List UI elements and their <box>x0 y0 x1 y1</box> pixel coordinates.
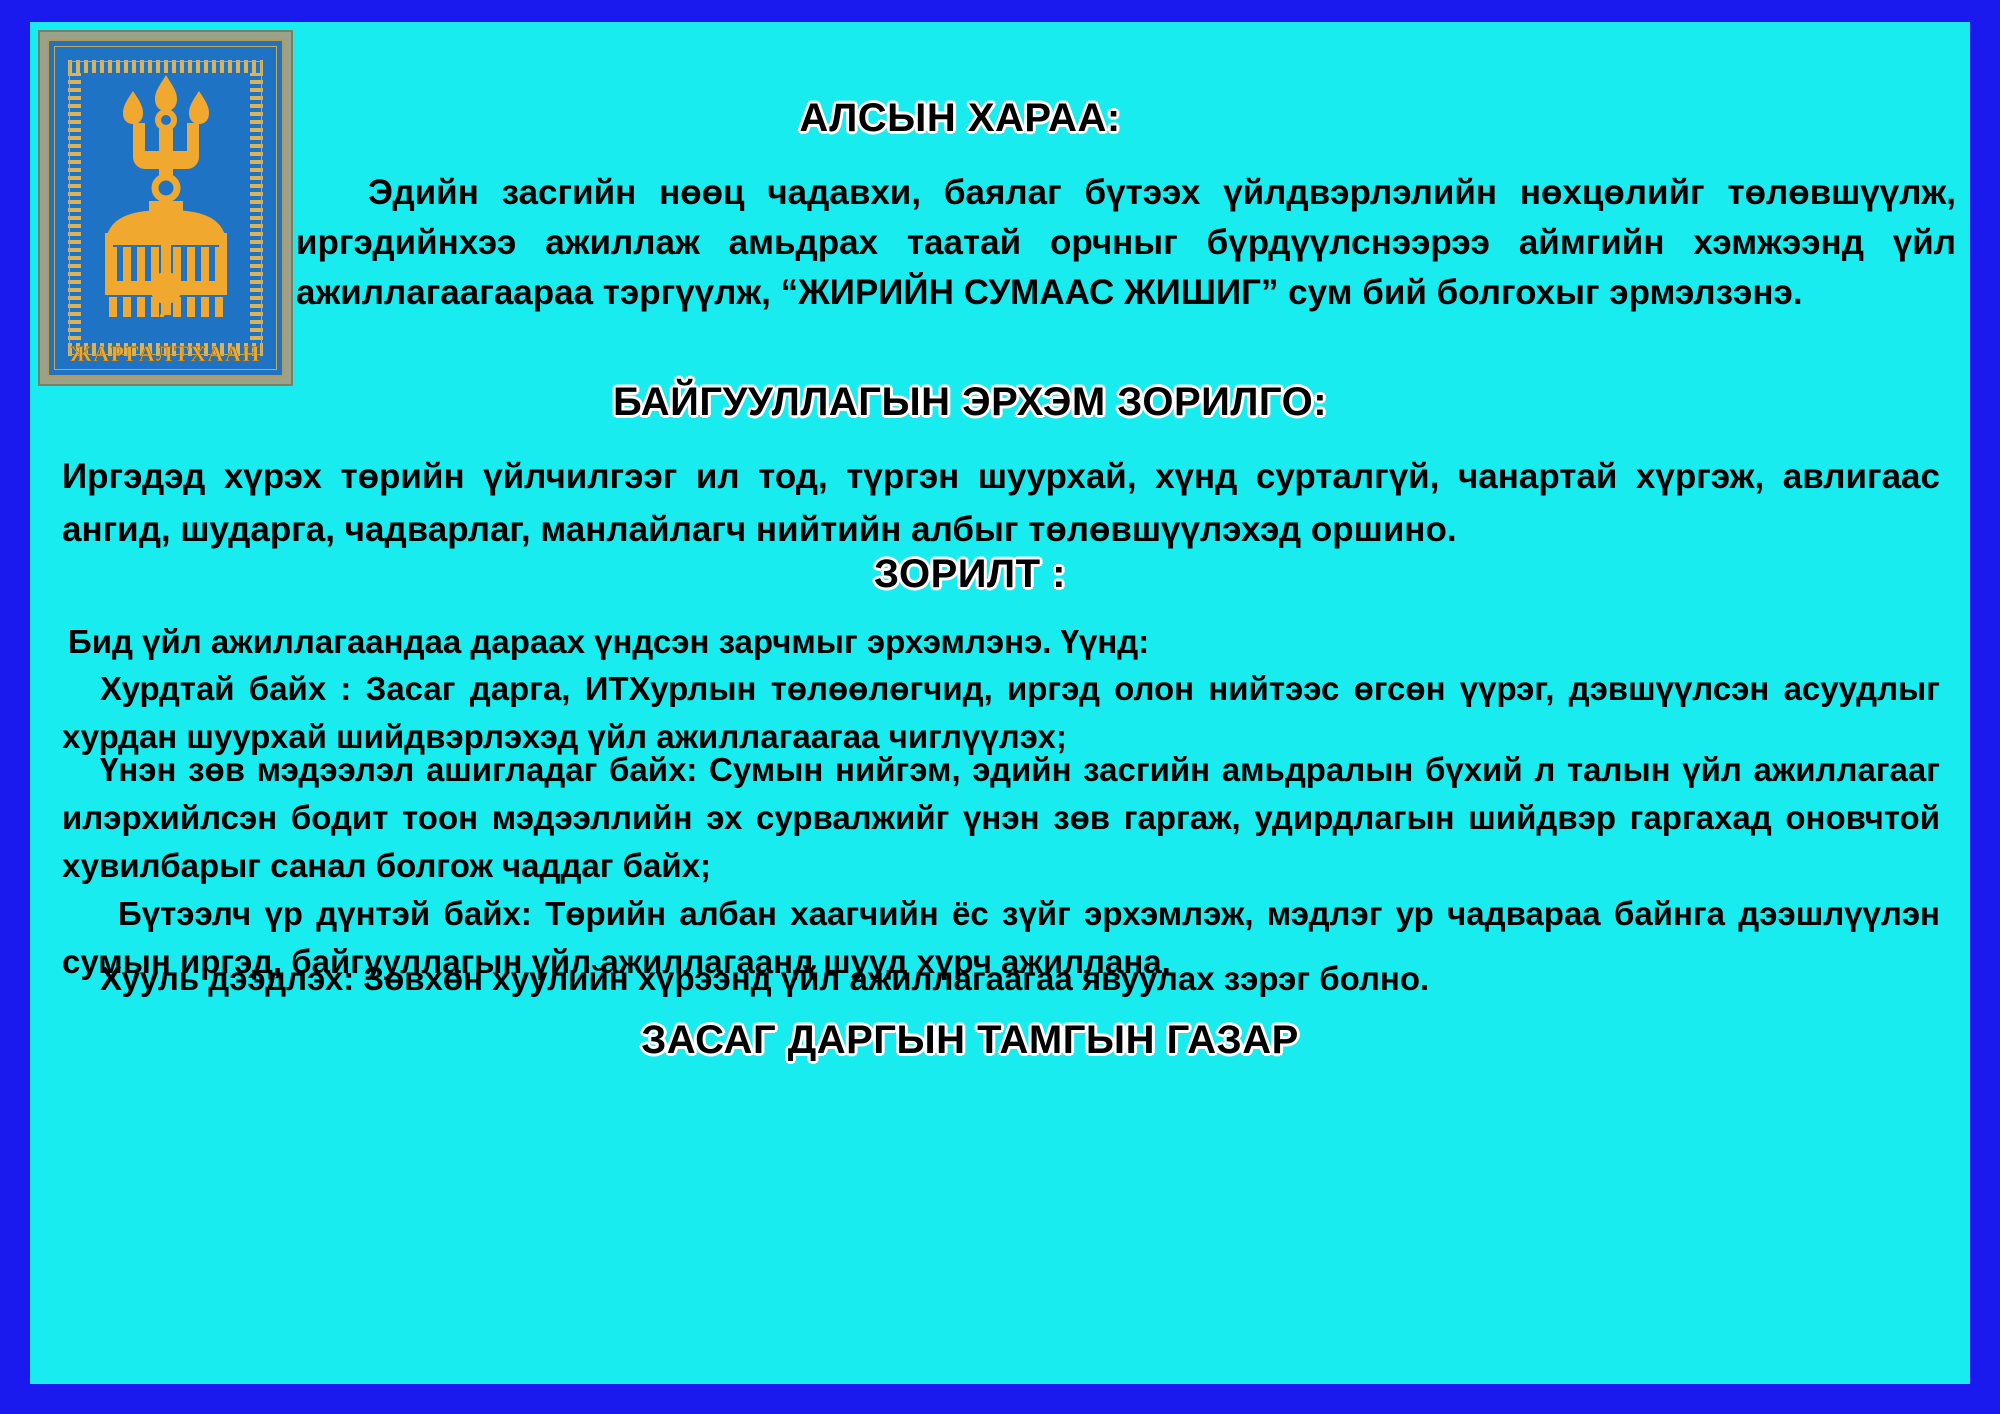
soyombo-wrap <box>49 67 282 331</box>
vision-heading: АЛСЫН ХАРАА: <box>300 96 1620 141</box>
vision-body: Эдийн засгийн нөөц чадавхи, баялаг бүтээ… <box>296 168 1956 318</box>
jargaltkhaan-emblem: ЖАРГАЛТХААН <box>38 30 293 386</box>
goal-item-rule-of-law: Хууль дээдлэх: Зөвхөн хуулийн хүрээнд үй… <box>62 955 1940 1003</box>
goal-heading: ЗОРИЛТ : <box>300 552 1640 597</box>
top-left-tab <box>30 0 220 22</box>
footer-organization-title: ЗАСАГ ДАРГЫН ТАМГЫН ГАЗАР <box>300 1018 1640 1063</box>
poster-root: ЖАРГАЛТХААН АЛСЫН ХАРАА: Эдийн засгийн н… <box>0 0 2000 1414</box>
mission-heading: БАЙГУУЛЛАГЫН ЭРХЭМ ЗОРИЛГО: <box>300 380 1640 425</box>
emblem-inner-field: ЖАРГАЛТХААН <box>47 39 284 377</box>
goal-item-accurate-info: Үнэн зөв мэдээлэл ашигладаг байх: Сумын … <box>62 746 1940 890</box>
mission-body: Иргэдэд хүрэх төрийн үйлчилгээг ил тод, … <box>62 450 1940 556</box>
soyombo-trident-icon <box>71 67 261 317</box>
goal-intro: Бид үйл ажиллагаандаа дараах үндсэн зарч… <box>68 618 1940 666</box>
emblem-name-label: ЖАРГАЛТХААН <box>49 341 282 367</box>
